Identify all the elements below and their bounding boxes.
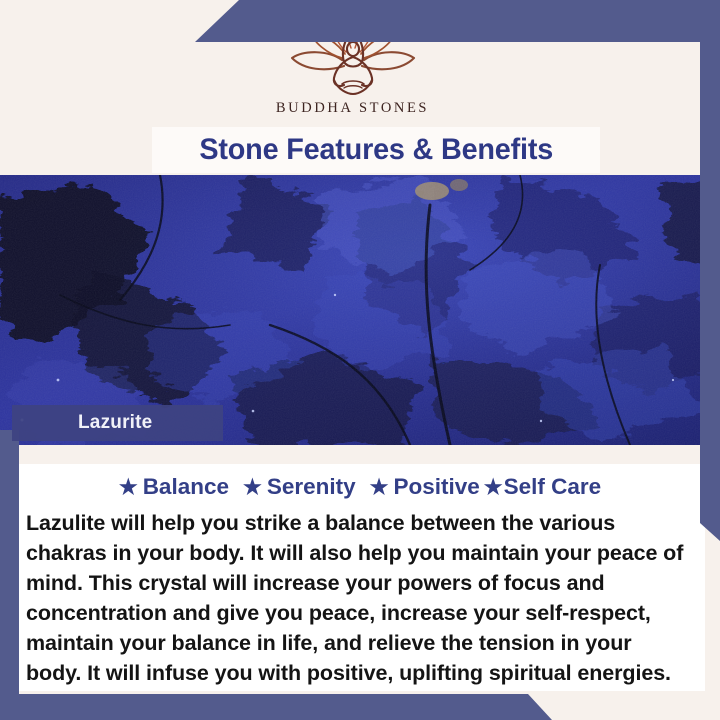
- product-info-card: BUDDHA STONES Stone Features & Benefits: [0, 0, 720, 720]
- title-banner: Stone Features & Benefits: [152, 127, 600, 173]
- stone-name-badge: Lazurite: [12, 405, 223, 441]
- benefit-label: Balance: [143, 474, 229, 500]
- star-icon: ★: [484, 477, 503, 498]
- benefit-item-self-care: ★ Self Care: [484, 474, 601, 500]
- star-icon: ★: [370, 477, 389, 498]
- benefit-item-serenity: ★ Serenity: [243, 474, 356, 500]
- benefit-item-positive: ★ Positive: [370, 474, 480, 500]
- page-title: Stone Features & Benefits: [199, 133, 553, 167]
- content-divider: [19, 445, 705, 464]
- benefit-label: Serenity: [267, 474, 356, 500]
- benefits-list: ★ Balance ★ Serenity ★ Positive ★ Self C…: [0, 474, 720, 500]
- stone-description: Lazulite will help you strike a balance …: [26, 508, 690, 688]
- benefit-item-balance: ★ Balance: [119, 474, 229, 500]
- benefit-label: Self Care: [504, 474, 602, 500]
- star-icon: ★: [243, 477, 262, 498]
- stone-name: Lazurite: [78, 412, 152, 434]
- frame-accent-right: [700, 0, 720, 541]
- star-icon: ★: [119, 477, 138, 498]
- frame-accent-top: [195, 0, 720, 42]
- brand-name: BUDDHA STONES: [276, 100, 429, 117]
- frame-accent-left: [0, 430, 19, 695]
- benefit-label: Positive: [393, 474, 479, 500]
- frame-accent-bottom: [0, 694, 552, 720]
